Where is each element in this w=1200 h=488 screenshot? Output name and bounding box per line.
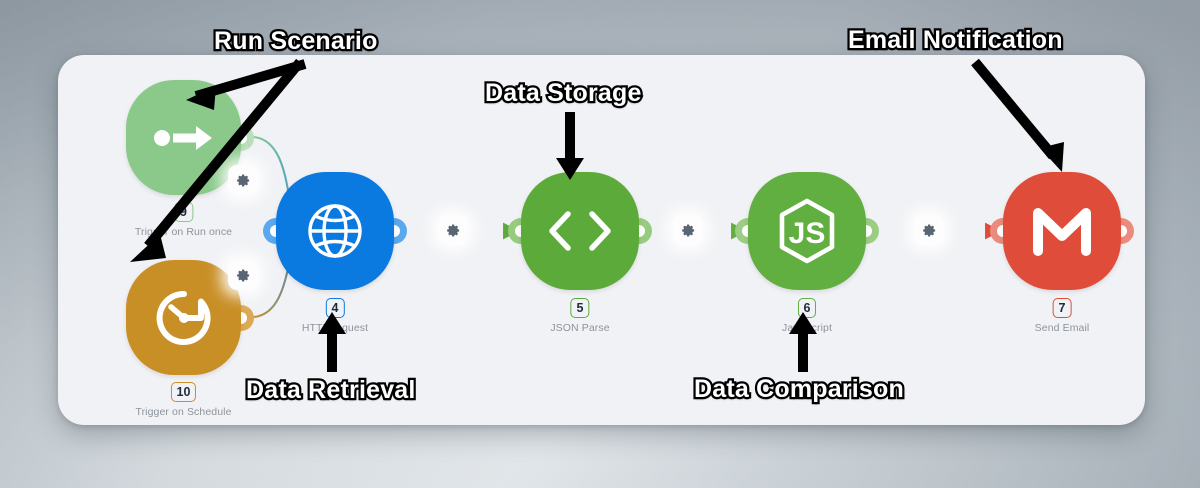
annotation-data-storage: Data Storage: [485, 79, 642, 108]
annotation-run-scenario: Run Scenario: [214, 27, 378, 56]
annotation-email-notification: Email Notification: [848, 26, 1063, 55]
annotation-data-comparison: Data Comparison: [694, 375, 904, 404]
annotation-layer: Run Scenario Data Storage Email Notifica…: [0, 0, 1200, 488]
annotation-data-retrieval: Data Retrieval: [246, 376, 416, 405]
